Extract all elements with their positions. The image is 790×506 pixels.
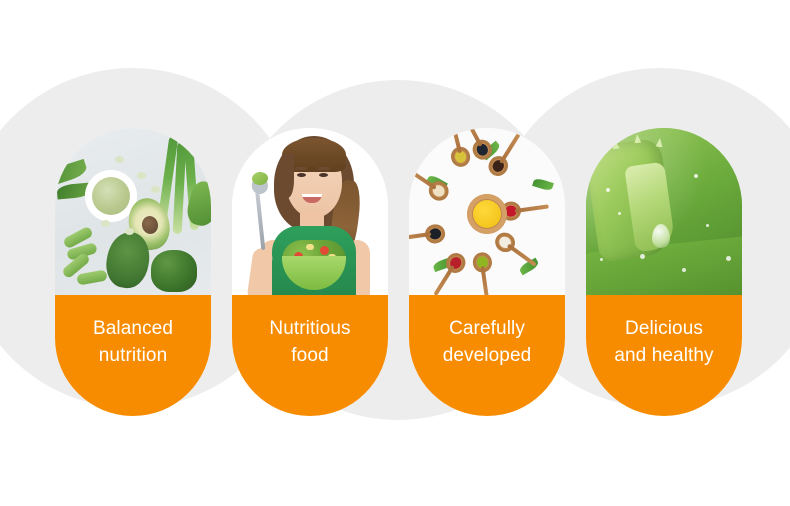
card-label-carefully-developed: Carefully developed [409,295,565,416]
card-label-line-1: Delicious [625,315,703,342]
card-label-delicious-and-healthy: Delicious and healthy [586,295,742,416]
vegetables-photo [55,128,211,295]
card-label-line-2: developed [443,342,532,369]
card-label-line-1: Nutritious [269,315,350,342]
aloe-vera-photo [586,128,742,295]
card-label-nutritious-food: Nutritious food [232,295,388,416]
woman-with-salad-photo [232,128,388,295]
card-label-line-2: nutrition [99,342,168,369]
feature-card-balanced-nutrition[interactable]: Balanced nutrition [55,128,211,416]
feature-card-nutritious-food[interactable]: Nutritious food [232,128,388,416]
card-label-line-1: Carefully [449,315,525,342]
card-label-line-2: and healthy [614,342,713,369]
card-label-line-1: Balanced [93,315,173,342]
feature-card-carefully-developed[interactable]: Carefully developed [409,128,565,416]
card-label-line-2: food [291,342,328,369]
feature-cards-banner: Balanced nutrition [0,0,790,506]
grains-spoons-photo [409,128,565,295]
card-label-balanced-nutrition: Balanced nutrition [55,295,211,416]
feature-card-delicious-and-healthy[interactable]: Delicious and healthy [586,128,742,416]
feature-card-list: Balanced nutrition [0,0,790,506]
